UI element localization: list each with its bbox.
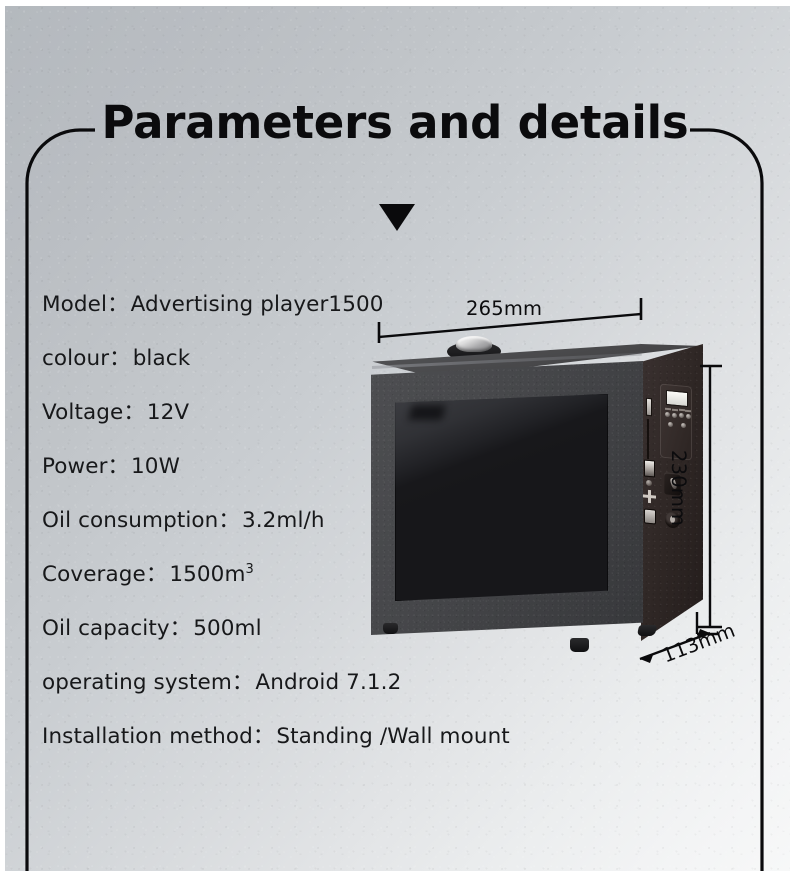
spec-value: black: [133, 346, 191, 371]
side-trim-bar: [647, 419, 649, 459]
dome-knob-icon: [456, 336, 492, 352]
spec-label: Oil consumption: [42, 508, 218, 533]
control-panel-button-label: [665, 408, 671, 411]
spec-colon: ：: [107, 292, 129, 317]
spec-colon: ：: [232, 670, 254, 695]
spec-label: operating system: [42, 670, 232, 695]
spec-colon: ：: [253, 724, 275, 749]
spec-value: 10W: [131, 454, 180, 479]
spec-value: 3.2ml/h: [242, 508, 325, 533]
dimension-height-label: 230mm: [667, 450, 690, 526]
spec-value: Advertising player1500: [131, 292, 384, 317]
spec-label: Voltage: [42, 400, 123, 425]
spec-row-model: Model：Advertising player1500: [42, 278, 512, 332]
spec-colon: ：: [218, 508, 240, 533]
spec-value: 12V: [147, 400, 189, 425]
control-panel-button-label: [672, 408, 678, 411]
control-panel-lcd-screen: [666, 390, 688, 407]
control-panel-button-label: [685, 410, 691, 413]
spec-label: Model: [42, 292, 107, 317]
rect-port-icon: [644, 508, 656, 524]
spec-label: Oil capacity: [42, 616, 170, 641]
round-port-icon: [646, 480, 652, 487]
display-glass-panel: [395, 394, 608, 601]
spec-colon: ：: [108, 454, 130, 479]
spec-label: Installation method: [42, 724, 253, 749]
spec-colon: ：: [109, 346, 131, 371]
cabinet-foot: [637, 625, 657, 636]
triangle-down-icon: [379, 204, 415, 231]
control-panel-button[interactable]: [686, 414, 691, 419]
cabinet-foot: [570, 638, 589, 652]
spec-colon: ：: [170, 616, 192, 641]
dimension-width-label: 265mm: [466, 297, 542, 320]
spec-label: Power: [42, 454, 108, 479]
product-image: [355, 325, 715, 675]
spec-value: 500ml: [193, 616, 261, 641]
spec-colon: ：: [146, 562, 168, 587]
product-spec-page: Parameters and details Model：Advertising…: [0, 0, 790, 871]
spec-label: Coverage: [42, 562, 146, 587]
spec-value-superscript: 3: [246, 562, 254, 577]
spec-colon: ：: [123, 400, 145, 425]
usb-port-icon: [644, 459, 655, 477]
control-panel-button[interactable]: [668, 422, 673, 427]
spec-label: colour: [42, 346, 109, 371]
spec-value: Standing /Wall mount: [276, 724, 509, 749]
control-panel-button[interactable]: [665, 412, 670, 417]
air-outlet-slot-icon: [646, 398, 652, 417]
spec-value: 1500m: [169, 562, 245, 587]
cabinet-foot: [383, 623, 398, 634]
spec-row-installation-method: Installation method：Standing /Wall mount: [42, 710, 512, 764]
control-panel-button[interactable]: [672, 412, 677, 417]
page-title: Parameters and details: [0, 96, 790, 149]
